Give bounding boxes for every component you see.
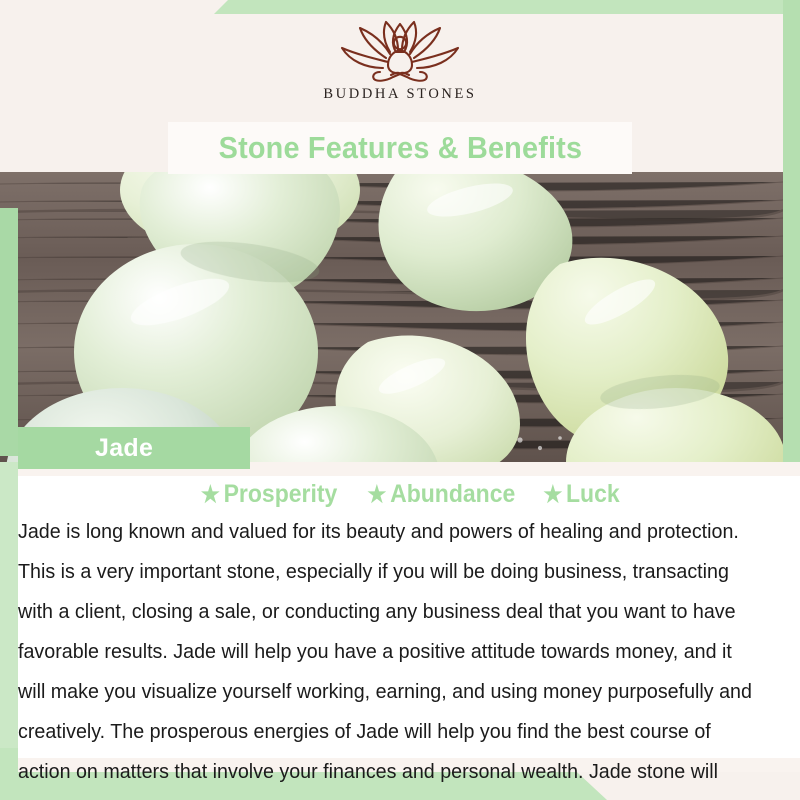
jade-stones-photo xyxy=(0,172,783,462)
lotus-meditation-icon xyxy=(334,18,466,82)
benefit-label: Luck xyxy=(566,480,620,508)
decor-green-left-bar xyxy=(0,208,18,456)
star-icon: ★ xyxy=(368,481,387,507)
benefit-item-luck: ★Luck xyxy=(544,480,620,509)
decor-green-left-lower-bar xyxy=(0,456,18,748)
section-title-banner: Stone Features & Benefits xyxy=(168,122,632,174)
star-icon: ★ xyxy=(544,481,563,507)
stone-name-banner: Jade xyxy=(18,427,250,469)
stone-description: Jade is long known and valued for its be… xyxy=(18,512,761,800)
photo-graphic xyxy=(0,172,783,462)
benefit-item-abundance: ★Abundance xyxy=(368,480,516,509)
star-icon: ★ xyxy=(200,481,219,507)
benefit-item-prosperity: ★Prosperity xyxy=(200,480,336,509)
benefits-list: ★Prosperity ★Abundance ★Luck xyxy=(18,480,800,509)
benefit-label: Prosperity xyxy=(223,480,337,508)
stone-info-card: BUDDHA STONES xyxy=(0,0,800,800)
benefit-label: Abundance xyxy=(390,480,515,508)
brand-name: BUDDHA STONES xyxy=(0,86,800,103)
page-title: Stone Features & Benefits xyxy=(218,130,582,166)
stone-name-label: Jade xyxy=(95,434,153,463)
brand-header: BUDDHA STONES xyxy=(0,18,800,103)
